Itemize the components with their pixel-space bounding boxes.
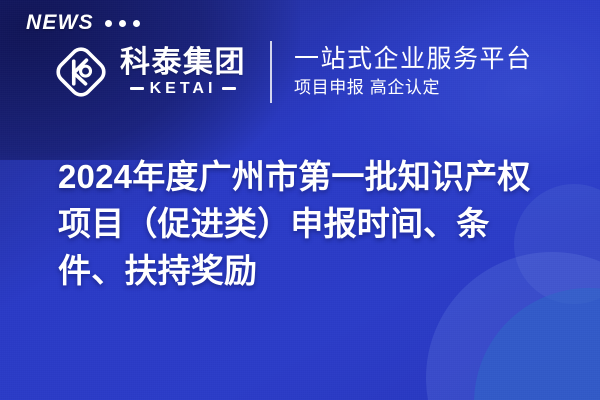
- rule-left-icon: [130, 87, 144, 90]
- eyebrow-dots-icon: [105, 18, 140, 27]
- news-label: NEWS: [26, 12, 94, 33]
- rule-right-icon: [222, 87, 236, 90]
- brand-name-cn: 科泰集团: [120, 47, 246, 79]
- news-banner: NEWS 科泰集团: [0, 0, 600, 400]
- brand-name-en-row: KETAI: [120, 81, 246, 97]
- ketai-diamond-logo-icon: [52, 43, 110, 101]
- tagline-secondary: 项目申报 高企认定: [294, 79, 533, 98]
- brand-lockup: 科泰集团 KETAI 一站式企业服务平台 项目申报 高企认定: [52, 41, 533, 103]
- brand-identity: 科泰集团 KETAI: [52, 43, 246, 101]
- headline-title: 2024年度广州市第一批知识产权项目（促进类）申报时间、条件、扶持奖励: [58, 154, 550, 295]
- brand-divider: [270, 41, 272, 103]
- dot-icon: [133, 20, 140, 27]
- tagline-primary: 一站式企业服务平台: [294, 46, 533, 74]
- eyebrow-row: NEWS: [26, 12, 140, 33]
- brand-taglines: 一站式企业服务平台 项目申报 高企认定: [294, 46, 533, 98]
- dot-icon: [105, 20, 112, 27]
- brand-wordmark: 科泰集团 KETAI: [120, 47, 246, 97]
- brand-name-en: KETAI: [150, 81, 217, 97]
- dot-icon: [119, 20, 126, 27]
